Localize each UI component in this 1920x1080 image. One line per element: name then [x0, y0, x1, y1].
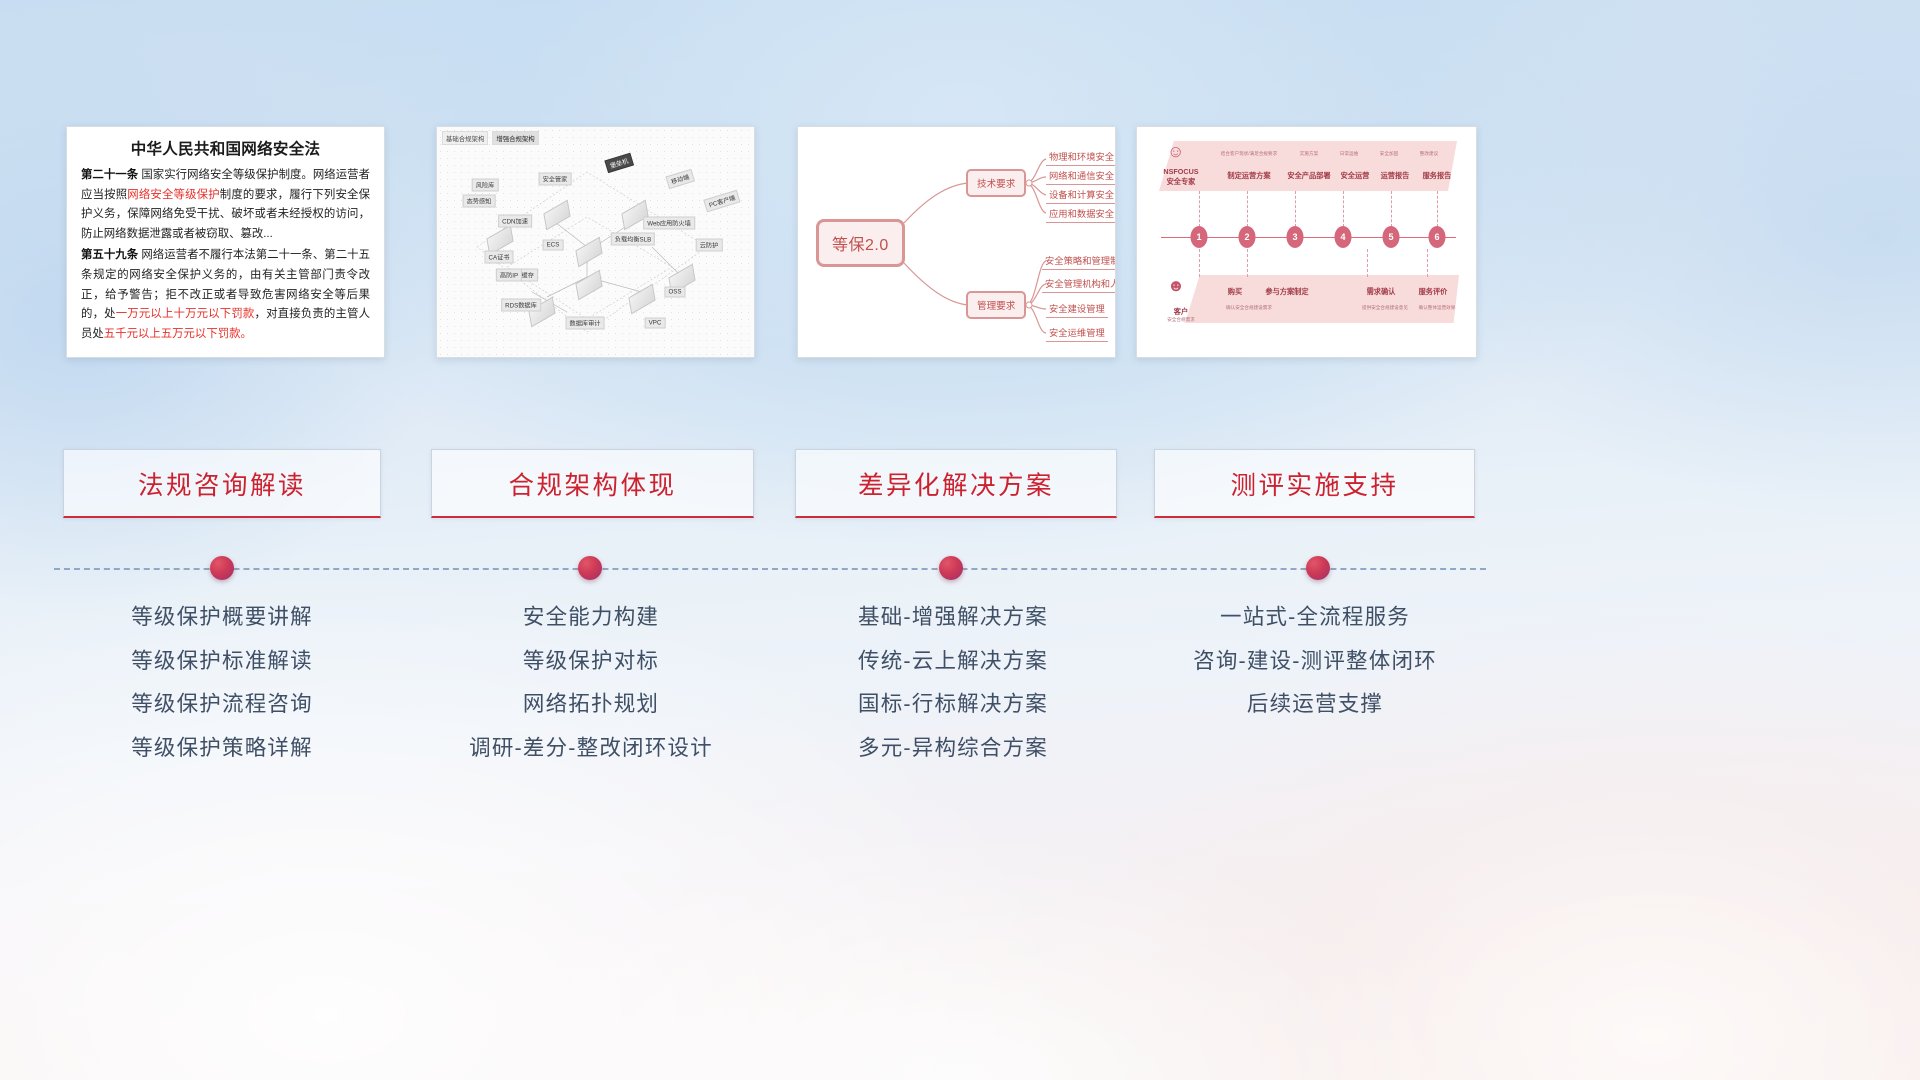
dash-6 — [1437, 191, 1438, 227]
step-4-sub: 安全加固 — [1380, 151, 1398, 157]
article-21-highlight: 网络安全等级保护 — [127, 189, 220, 201]
list-item: 基础-增强解决方案 — [792, 605, 1114, 630]
dash-b4 — [1427, 249, 1428, 277]
timeline-band-top — [1159, 141, 1457, 191]
mindmap-leaf-construction-mgmt: 安全建设管理 — [1046, 300, 1108, 318]
architecture-canvas: 基础合规架构 增强合规架构 — [437, 127, 754, 357]
list-item: 调研-差分-整改闭环设计 — [430, 736, 752, 761]
section-header-regulation-consulting[interactable]: 法规咨询解读 — [63, 449, 381, 518]
section-header-label-2: 差异化解决方案 — [858, 465, 1054, 502]
timeline-step-dot-3[interactable]: 3 — [1287, 226, 1304, 248]
list-item: 等级保护标准解读 — [62, 649, 382, 674]
section-items-column-3: 一站式-全流程服务 咨询-建设-测评整体闭环 后续运营支撑 — [1152, 605, 1478, 736]
dash-3 — [1295, 191, 1296, 227]
dash-5 — [1391, 191, 1392, 227]
article-59-highlight-a: 一万元以上十万元以下罚款 — [116, 308, 255, 320]
step-1-label: 制定运营方案 — [1227, 171, 1270, 181]
section-header-differentiated-solution[interactable]: 差异化解决方案 — [795, 449, 1117, 518]
customer-subtitle: 安全合规需求 — [1167, 317, 1195, 323]
article-59-label: 第五十九条 — [81, 249, 138, 261]
step-3-sub: 日常运维 — [1340, 151, 1358, 157]
step-5-label: 服务报告 — [1423, 171, 1452, 181]
list-item: 等级保护对标 — [430, 649, 752, 674]
timeline-step-dot-4[interactable]: 4 — [1335, 226, 1352, 248]
mindmap-branch-management: 管理要求 — [966, 291, 1026, 319]
node-ca-cert: CA证书 — [485, 251, 514, 264]
customer-name: 客户 — [1174, 307, 1188, 317]
law-article-59: 第五十九条 网络运营者不履行本法第二十一条、第二十五条规定的网络安全保护义务的，… — [81, 246, 370, 344]
list-item: 国标-行标解决方案 — [792, 692, 1114, 717]
mindmap-root: 等保2.0 — [816, 219, 905, 267]
dash-2 — [1247, 191, 1248, 227]
node-vpc: VPC — [645, 318, 666, 329]
section-header-assessment-support[interactable]: 测评实施支持 — [1154, 449, 1475, 518]
process-timeline-dot-3[interactable] — [1306, 556, 1330, 580]
node-web-firewall: Web应用防火墙 — [643, 217, 695, 230]
law-body: 中华人民共和国网络安全法 第二十一条 国家实行网络安全等级保护制度。网络运营者应… — [67, 127, 384, 357]
process-timeline-line — [54, 568, 1486, 572]
customer-avatar-icon: ☻ — [1167, 277, 1185, 294]
step-2-label: 安全产品部署 — [1287, 171, 1330, 181]
process-timeline-dot-2[interactable] — [939, 556, 963, 580]
mindmap-leaf-physical-env: 物理和环境安全 — [1046, 148, 1116, 166]
expert-avatar-icon: ☺ — [1167, 143, 1184, 160]
list-item: 一站式-全流程服务 — [1152, 605, 1478, 630]
screenshot-cards-row: 中华人民共和国网络安全法 第二十一条 国家实行网络安全等级保护制度。网络运营者应… — [0, 126, 1920, 360]
list-item: 咨询-建设-测评整体闭环 — [1152, 649, 1478, 674]
mindmap-canvas: 等保2.0 技术要求 管理要求 物理和环境安全 网络和通信安全 设备和计算安全 … — [798, 127, 1115, 357]
section-items-row: 等级保护概要讲解 等级保护标准解读 等级保护流程咨询 等级保护策略详解 安全能力… — [0, 605, 1920, 805]
node-ecs: ECS — [543, 240, 564, 251]
step-2-sub: 实施方案 — [1300, 151, 1318, 157]
card-cloud-architecture: 基础合规架构 增强合规架构 — [436, 126, 755, 358]
node-rds: RDS数据库 — [501, 299, 541, 312]
node-oss: OSS — [664, 287, 685, 298]
node-situation-awareness: 态势感知 — [463, 195, 496, 208]
bottom-label-purchase: 购买 — [1228, 287, 1242, 297]
dash-4 — [1343, 191, 1344, 227]
timeline-step-dot-5[interactable]: 5 — [1383, 226, 1400, 248]
section-header-label-3: 测评实施支持 — [1230, 465, 1398, 502]
bottom-sub-2: 提供安全合规建设意见 — [1362, 305, 1408, 311]
section-items-column-2: 基础-增强解决方案 传统-云上解决方案 国标-行标解决方案 多元-异构综合方案 — [792, 605, 1114, 780]
list-item: 等级保护策略详解 — [62, 736, 382, 761]
list-item: 网络拓扑规划 — [430, 692, 752, 717]
mindmap-leaf-app-data: 应用和数据安全 — [1046, 205, 1116, 223]
mindmap-leaf-ops-mgmt: 安全运维管理 — [1046, 324, 1108, 342]
process-timeline-dot-0[interactable] — [210, 556, 234, 580]
article-59-highlight-b: 五千元以上五万元以下罚款。 — [104, 328, 252, 340]
node-db-audit: 数据库审计 — [566, 317, 605, 330]
list-item: 多元-异构综合方案 — [792, 736, 1114, 761]
node-anti-ddos-ip: 高防IP — [496, 269, 522, 282]
mindmap-leaf-device-compute: 设备和计算安全 — [1046, 186, 1116, 204]
mindmap-leaf-org-personnel: 安全管理机构和人员 — [1042, 275, 1116, 293]
bottom-label-participate: 参与方案制定 — [1265, 287, 1308, 297]
node-waf-left: CDN加速 — [498, 215, 532, 228]
list-item: 等级保护流程咨询 — [62, 692, 382, 717]
service-timeline-canvas: ☺ NSFOCUS 安全专家 结合客户现状/满足合规要求 实施方案 日常运维 安… — [1137, 127, 1476, 357]
bottom-label-evaluation: 服务评价 — [1419, 287, 1448, 297]
process-timeline-dot-1[interactable] — [578, 556, 602, 580]
section-items-column-1: 安全能力构建 等级保护对标 网络拓扑规划 调研-差分-整改闭环设计 — [430, 605, 752, 780]
mindmap-branch-technical: 技术要求 — [966, 169, 1026, 197]
node-slb: 负载均衡SLB — [611, 233, 655, 246]
bottom-sub-1: 确认安全合规建设需求 — [1226, 305, 1272, 311]
card-law-document: 中华人民共和国网络安全法 第二十一条 国家实行网络安全等级保护制度。网络运营者应… — [66, 126, 385, 358]
bottom-sub-3: 确认整体运营效果 — [1419, 305, 1456, 311]
step-5-sub: 整改建议 — [1420, 151, 1438, 157]
bottom-label-requirement: 需求确认 — [1367, 287, 1396, 297]
timeline-band-bottom-right — [1351, 275, 1459, 323]
timeline-step-dot-1[interactable]: 1 — [1191, 226, 1208, 248]
list-item: 安全能力构建 — [430, 605, 752, 630]
law-article-21: 第二十一条 国家实行网络安全等级保护制度。网络运营者应当按照网络安全等级保护制度… — [81, 166, 370, 244]
dash-b3 — [1367, 249, 1368, 277]
node-cloud-protection: 云防护 — [696, 239, 723, 252]
section-header-compliance-architecture[interactable]: 合规架构体现 — [431, 449, 754, 518]
brand-name: NSFOCUS — [1163, 167, 1198, 176]
step-4-label: 运营报告 — [1381, 171, 1410, 181]
law-title: 中华人民共和国网络安全法 — [81, 137, 370, 159]
timeline-step-dot-2[interactable]: 2 — [1239, 226, 1256, 248]
list-item: 后续运营支撑 — [1152, 692, 1478, 717]
list-item: 等级保护概要讲解 — [62, 605, 382, 630]
node-risk-library: 风险库 — [472, 179, 499, 192]
dash-b1 — [1199, 249, 1200, 277]
article-21-label: 第二十一条 — [81, 169, 138, 181]
section-headers-row: 法规咨询解读 合规架构体现 差异化解决方案 测评实施支持 — [0, 449, 1920, 519]
card-service-timeline: ☺ NSFOCUS 安全专家 结合客户现状/满足合规要求 实施方案 日常运维 安… — [1136, 126, 1477, 358]
dash-b2 — [1247, 249, 1248, 277]
step-3-label: 安全运营 — [1341, 171, 1370, 181]
section-items-column-0: 等级保护概要讲解 等级保护标准解读 等级保护流程咨询 等级保护策略详解 — [62, 605, 382, 780]
dash-1 — [1199, 191, 1200, 227]
brand-subtitle: 安全专家 — [1167, 177, 1196, 187]
list-item: 传统-云上解决方案 — [792, 649, 1114, 674]
node-security-steward: 安全管家 — [539, 173, 572, 186]
step-1-sub: 结合客户现状/满足合规要求 — [1221, 151, 1277, 157]
section-header-label-0: 法规咨询解读 — [138, 465, 306, 502]
timeline-step-dot-6[interactable]: 6 — [1429, 226, 1446, 248]
section-header-label-1: 合规架构体现 — [508, 465, 676, 502]
mindmap-leaf-policy-system: 安全策略和管理制度 — [1042, 252, 1116, 270]
mindmap-leaf-network-comm: 网络和通信安全 — [1046, 167, 1116, 185]
card-mindmap: 等保2.0 技术要求 管理要求 物理和环境安全 网络和通信安全 设备和计算安全 … — [797, 126, 1116, 358]
